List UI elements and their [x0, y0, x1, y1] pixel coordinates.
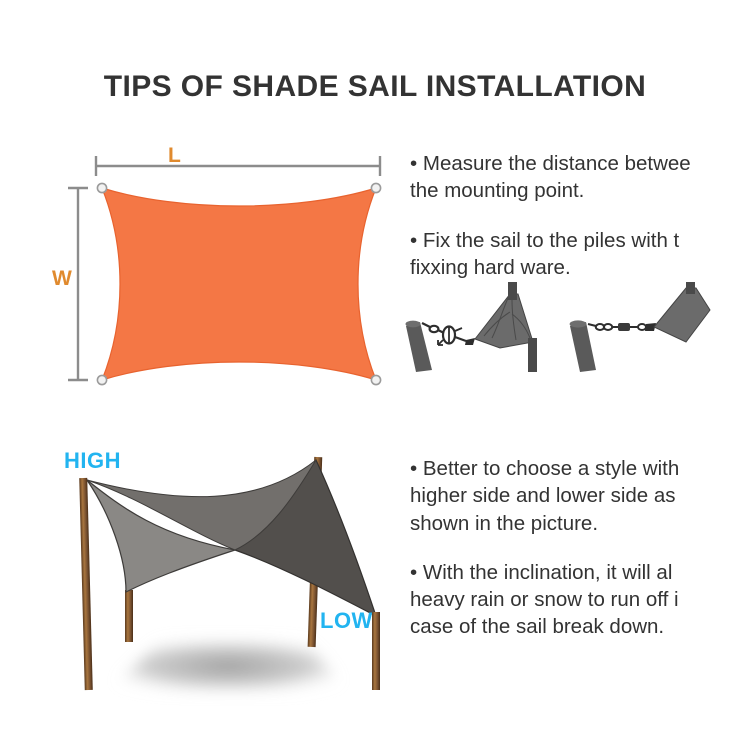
hardware-illustration-chain	[560, 282, 750, 377]
infographic-page: TIPS OF SHADE SAIL INSTALLATION	[0, 0, 750, 750]
length-dimension-line	[96, 156, 380, 176]
hardware-turnbuckle-svg	[400, 282, 570, 372]
pole-icon	[570, 320, 596, 372]
inclined-sails-svg	[30, 440, 420, 710]
chain-icon	[588, 323, 646, 331]
connector-plate	[465, 338, 475, 345]
high-side-label: HIGH	[64, 450, 121, 472]
inclined-sails-diagram	[30, 440, 420, 710]
tip-fix-sail-to-piles: • Fix the sail to the piles with t fixxi…	[410, 227, 750, 282]
pole-low-right	[372, 612, 380, 690]
ground-shadow	[108, 640, 348, 692]
tip-inclination-runoff: • With the inclination, it will al heavy…	[410, 559, 750, 641]
page-title: TIPS OF SHADE SAIL INSTALLATION	[0, 70, 750, 104]
sail-corner-panel	[654, 282, 710, 342]
sail-dark	[235, 460, 376, 616]
tips-top-column: • Measure the distance betwee the mounti…	[410, 150, 750, 281]
tip-measure-distance: • Measure the distance betwee the mounti…	[410, 150, 750, 205]
hardware-illustration-turnbuckle	[400, 282, 570, 377]
rectangular-sail-diagram	[60, 140, 400, 400]
tips-bottom-column: • Better to choose a style with higher s…	[410, 455, 750, 641]
hardware-chain-svg	[560, 282, 750, 372]
pole-icon	[406, 321, 433, 372]
length-label: L	[168, 145, 181, 166]
rectangular-sail-svg	[60, 140, 400, 400]
width-label: W	[52, 268, 72, 289]
tip-choose-style: • Better to choose a style with higher s…	[410, 455, 750, 537]
pole-mid-right	[125, 590, 133, 642]
sail-body	[102, 188, 376, 380]
low-side-label: LOW	[320, 610, 373, 632]
sail-corner-panel	[475, 282, 537, 372]
pole-high-left	[79, 478, 93, 690]
turnbuckle-icon	[422, 323, 466, 345]
